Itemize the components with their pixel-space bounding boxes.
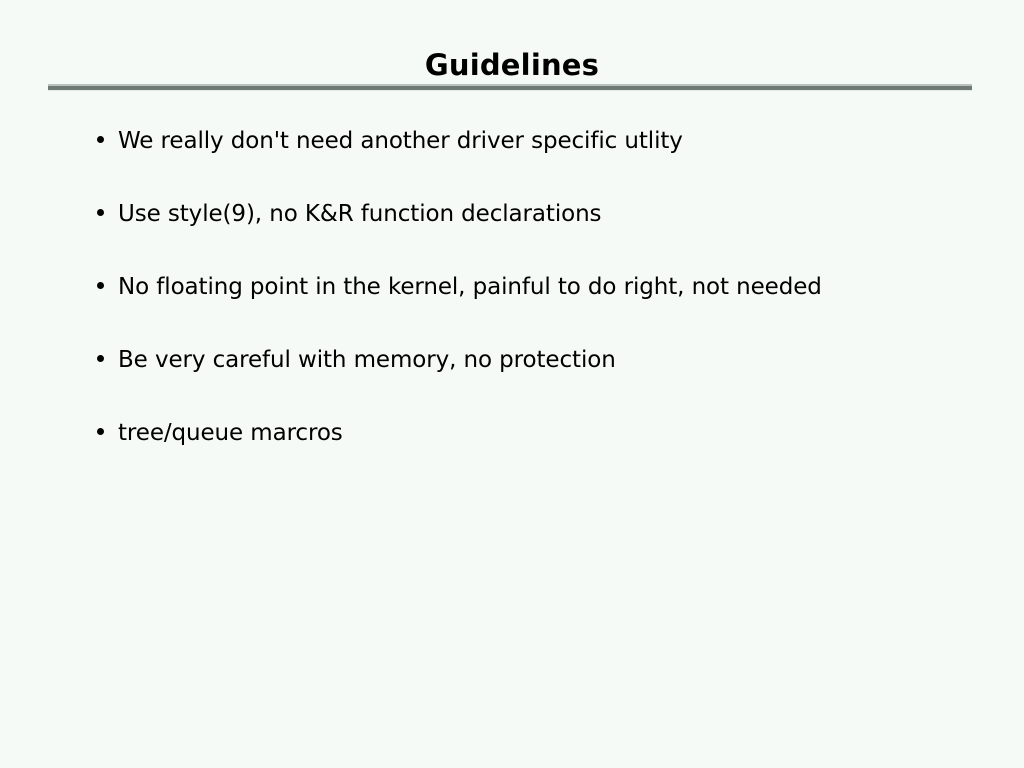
bullet-point-icon: [92, 418, 118, 435]
list-item: Use style(9), no K&R function declaratio…: [92, 199, 992, 272]
bullet-list: We really don't need another driver spec…: [92, 126, 992, 491]
slide-title: Guidelines: [0, 48, 1024, 82]
list-item-label: We really don't need another driver spec…: [118, 126, 992, 156]
bullet-point-icon: [92, 199, 118, 216]
list-item: We really don't need another driver spec…: [92, 126, 992, 199]
bullet-point-icon: [92, 345, 118, 362]
title-divider-rule: [48, 84, 972, 91]
list-item-label: Use style(9), no K&R function declaratio…: [118, 199, 992, 229]
list-item-label: tree/queue marcros: [118, 418, 992, 448]
list-item: tree/queue marcros: [92, 418, 992, 491]
divider-shadow: [48, 90, 972, 91]
list-item: Be very careful with memory, no protecti…: [92, 345, 992, 418]
list-item-label: No floating point in the kernel, painful…: [118, 272, 992, 302]
list-item-label: Be very careful with memory, no protecti…: [118, 345, 992, 375]
bullet-point-icon: [92, 126, 118, 143]
list-item: No floating point in the kernel, painful…: [92, 272, 992, 345]
bullet-point-icon: [92, 272, 118, 289]
presentation-slide: Guidelines We really don't need another …: [0, 0, 1024, 768]
